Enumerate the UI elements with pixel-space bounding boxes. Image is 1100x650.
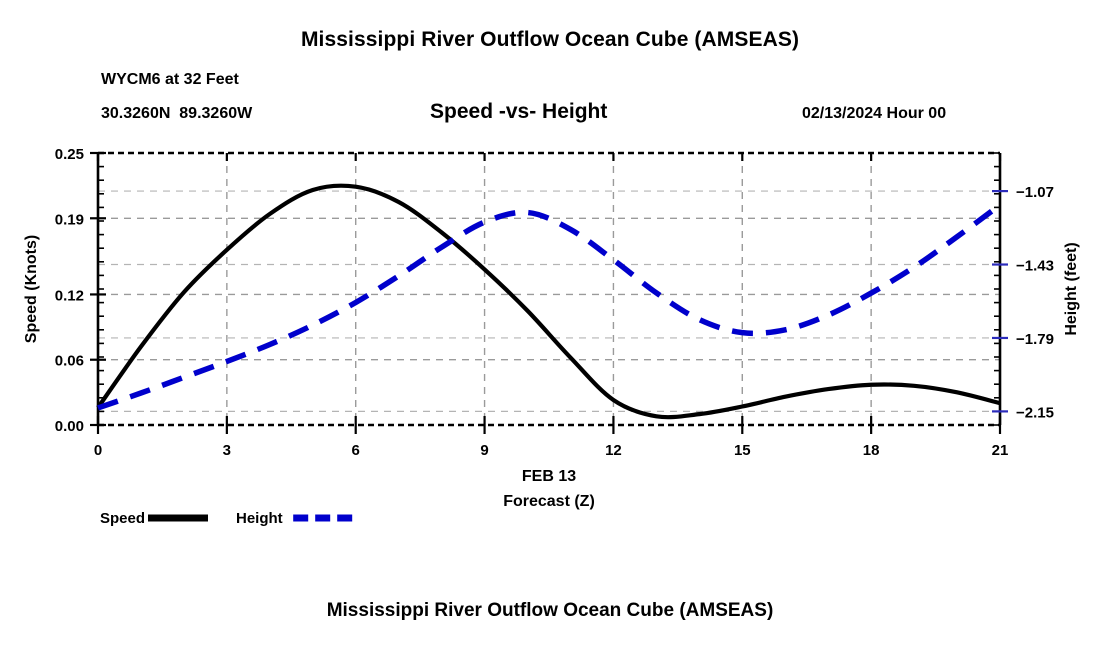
data-series-layer (98, 186, 1000, 418)
y-tick-label: 0.06 (55, 353, 84, 370)
y2-tick-label: −1.07 (1016, 184, 1054, 201)
tick-labels: 0.000.060.120.190.25−2.15−1.79−1.43−1.07… (55, 146, 1054, 459)
y2-tick-label: −1.79 (1016, 331, 1054, 348)
x-tick-label: 3 (223, 442, 231, 459)
x-tick-label: 21 (992, 442, 1009, 459)
x-axis-sublabel: FEB 13 (522, 468, 576, 485)
y-tick-label: 0.12 (55, 287, 84, 304)
y-tick-label: 0.00 (55, 418, 84, 435)
axis-labels: Speed (Knots)Height (feet)FEB 13Forecast… (23, 235, 1080, 510)
y-tick-label: 0.19 (55, 211, 84, 228)
series-line-speed (98, 186, 1000, 418)
legend-label-speed: Speed (100, 510, 145, 527)
chart-legend: SpeedHeight (100, 510, 353, 527)
chart-plot: 0.000.060.120.190.25−2.15−1.79−1.43−1.07… (0, 0, 1100, 650)
footer-title: Mississippi River Outflow Ocean Cube (AM… (0, 600, 1100, 622)
x-tick-label: 6 (352, 442, 360, 459)
series-line-height (98, 205, 1000, 408)
y2-tick-label: −2.15 (1016, 404, 1054, 421)
legend-label-height: Height (236, 510, 283, 527)
x-tick-label: 12 (605, 442, 622, 459)
x-tick-label: 0 (94, 442, 102, 459)
y-axis-title: Speed (Knots) (23, 235, 40, 343)
x-tick-label: 15 (734, 442, 751, 459)
y2-axis-title: Height (feet) (1063, 242, 1080, 335)
y2-tick-label: −1.43 (1016, 258, 1054, 275)
x-tick-label: 9 (480, 442, 488, 459)
x-tick-label: 18 (863, 442, 880, 459)
x-axis-title: Forecast (Z) (503, 493, 595, 510)
y-tick-label: 0.25 (55, 146, 84, 163)
chart-page: Mississippi River Outflow Ocean Cube (AM… (0, 0, 1100, 650)
